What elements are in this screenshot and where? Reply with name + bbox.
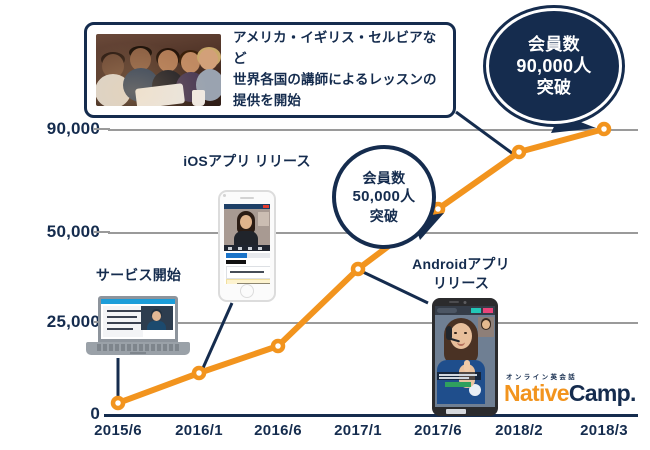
badge-90k-line1: 会員数 bbox=[528, 34, 580, 55]
friends-photo bbox=[96, 34, 221, 106]
logo-wordmark: NativeCamp. bbox=[504, 382, 640, 405]
chart-infographic: 90,000 50,000 25,000 0 2015/6 2016/1 201… bbox=[0, 0, 650, 450]
badge-50k-line2: 50,000人 bbox=[353, 187, 416, 207]
badge-90k-line3: 突破 bbox=[537, 77, 572, 98]
badge-members-90000: 会員数 90,000人 突破 bbox=[486, 8, 622, 124]
logo-name-first: Native bbox=[504, 380, 569, 406]
logo-name-second: Camp. bbox=[569, 380, 636, 406]
badge-50k-line1: 会員数 bbox=[363, 169, 406, 187]
nativecamp-logo: オンライン英会話 NativeCamp. bbox=[504, 371, 640, 405]
callout-global-tutors: アメリカ・イギリス・セルビアなど 世界各国の講師によるレッスンの 提供を開始 bbox=[84, 22, 456, 118]
callout-text: アメリカ・イギリス・セルビアなど 世界各国の講師によるレッスンの 提供を開始 bbox=[233, 28, 444, 112]
badge-50k-line3: 突破 bbox=[370, 207, 399, 225]
badge-members-50000: 会員数 50,000人 突破 bbox=[332, 145, 436, 249]
badge-90k-line2: 90,000人 bbox=[516, 55, 591, 78]
